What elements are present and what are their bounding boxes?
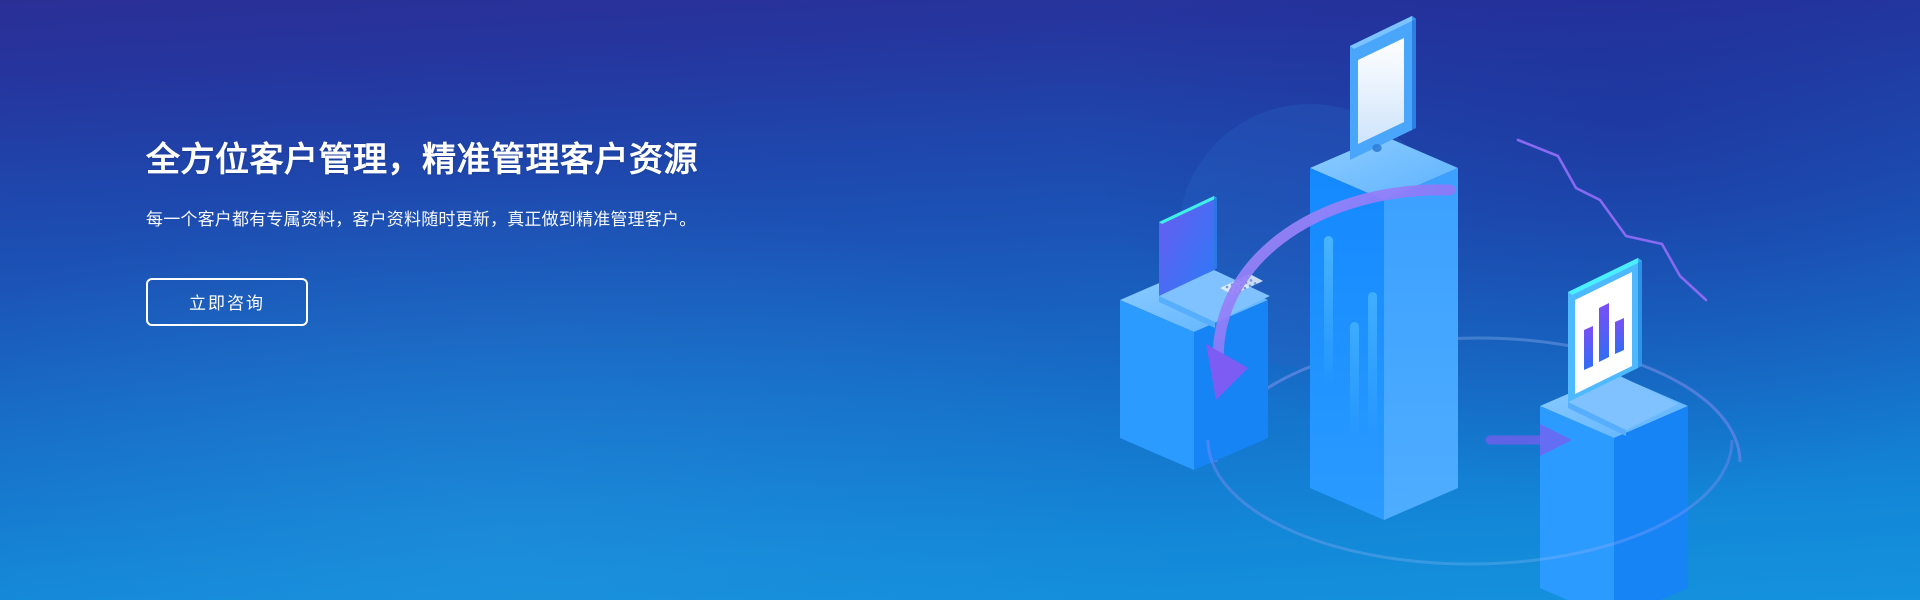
hero-subtitle: 每一个客户都有专属资料，客户资料随时更新，真正做到精准管理客户。 [146, 207, 746, 233]
hero-copy-block: 全方位客户管理，精准管理客户资源 每一个客户都有专属资料，客户资料随时更新，真正… [146, 140, 786, 326]
hero-banner: 全方位客户管理，精准管理客户资源 每一个客户都有专属资料，客户资料随时更新，真正… [0, 0, 1920, 600]
monitor-device [1568, 258, 1678, 436]
isometric-data-pillars-graphic [1020, 0, 1920, 600]
consult-now-button[interactable]: 立即咨询 [146, 278, 308, 326]
hero-illustration [1020, 0, 1920, 600]
page-title: 全方位客户管理，精准管理客户资源 [146, 140, 786, 181]
tablet-device [1350, 16, 1416, 160]
